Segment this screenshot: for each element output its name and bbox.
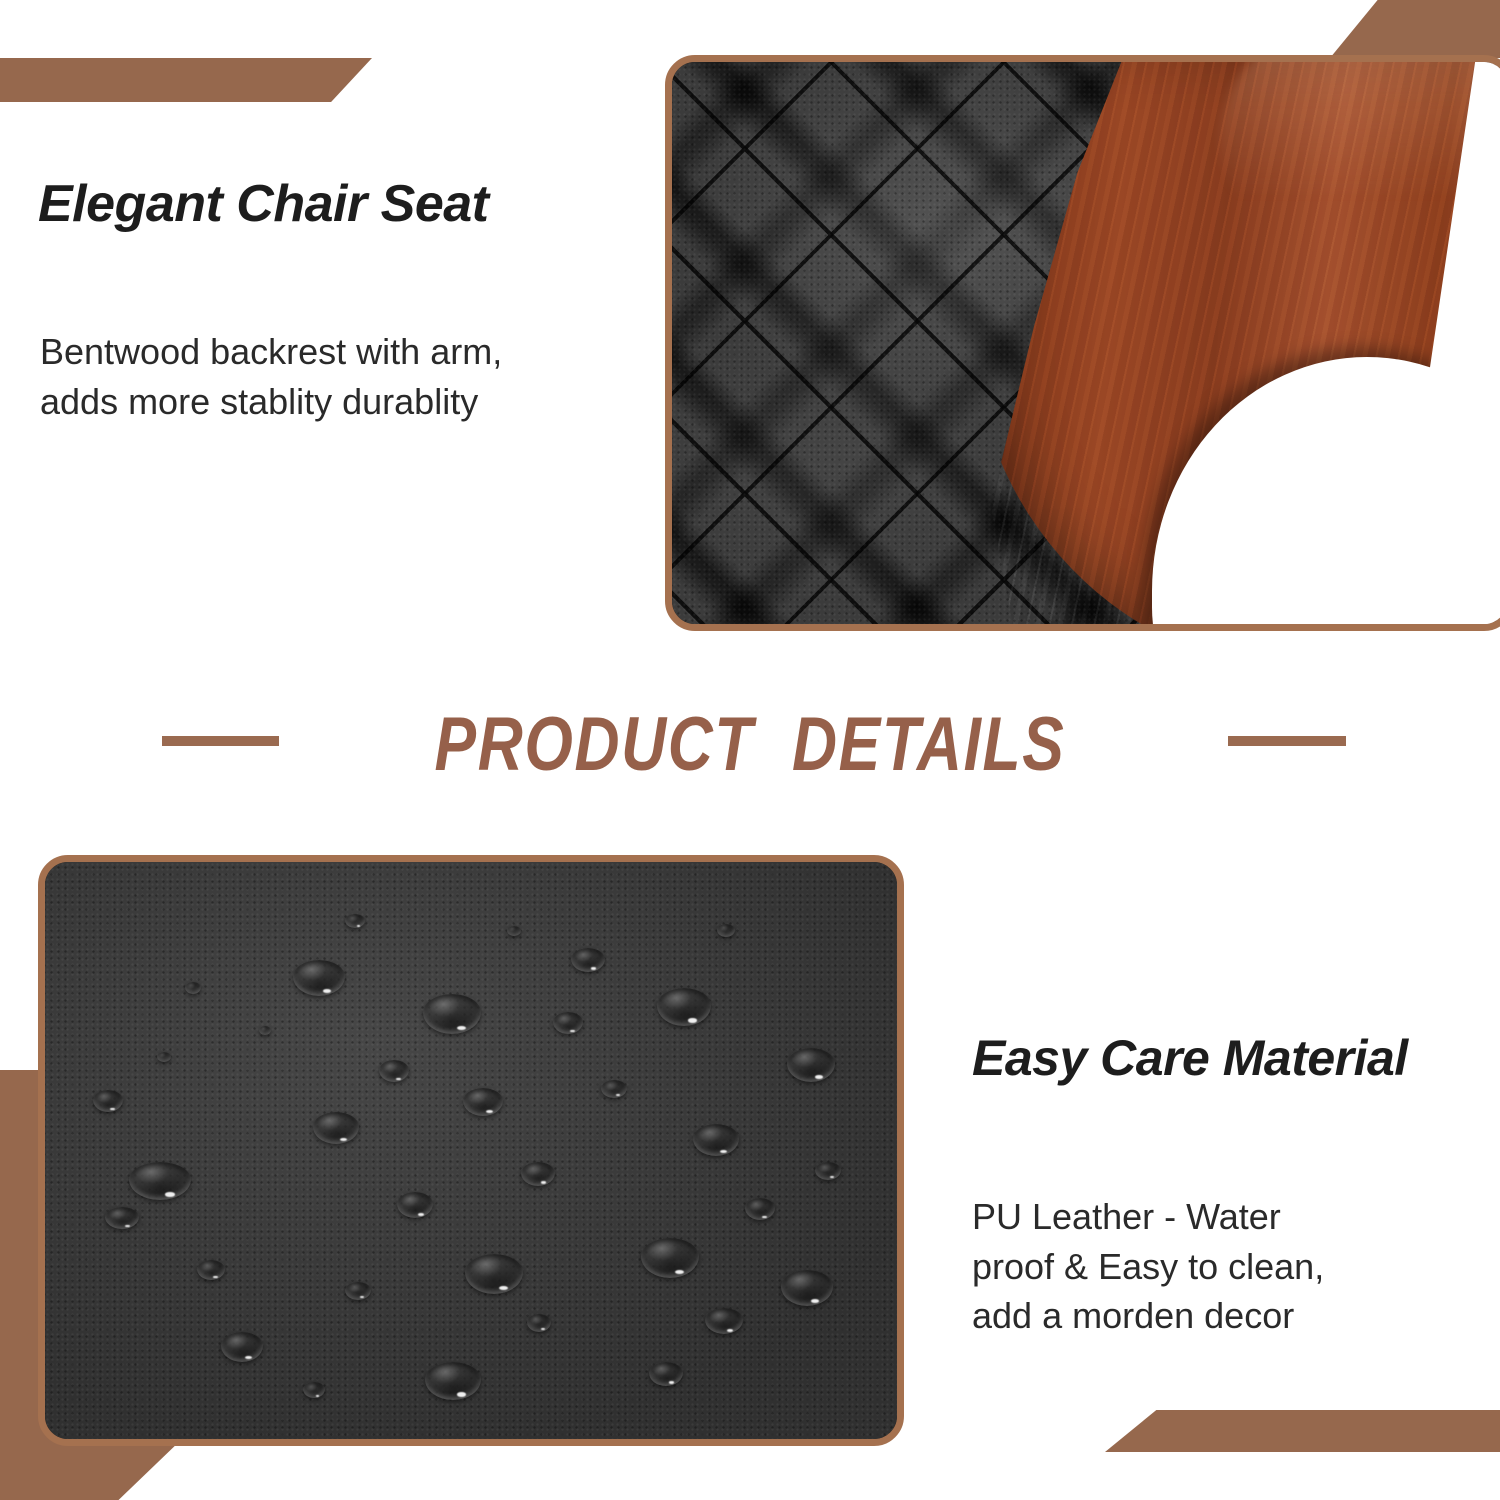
heading-dash-right-icon bbox=[1228, 736, 1346, 746]
water-droplets-photo bbox=[45, 862, 897, 1439]
decor-top-right-wedge bbox=[1330, 0, 1500, 58]
feature-body-line: proof & Easy to clean, bbox=[972, 1246, 1324, 1287]
feature-body-easy-care-material: PU Leather - Water proof & Easy to clean… bbox=[972, 1192, 1324, 1341]
feature-title-elegant-chair-seat: Elegant Chair Seat bbox=[38, 178, 488, 230]
quilted-seat-photo bbox=[672, 62, 1500, 624]
feature-body-elegant-chair-seat: Bentwood backrest with arm, adds more st… bbox=[40, 327, 502, 426]
decor-top-left-band bbox=[0, 58, 372, 102]
feature-body-line: PU Leather - Water bbox=[972, 1196, 1281, 1237]
product-detail-page: Elegant Chair Seat Bentwood backrest wit… bbox=[0, 0, 1500, 1500]
feature-body-line: Bentwood backrest with arm, bbox=[40, 331, 502, 372]
pu-leather-surface bbox=[45, 862, 897, 1439]
feature-title-easy-care-material: Easy Care Material bbox=[972, 1033, 1408, 1083]
feature-body-line: adds more stablity durablity bbox=[40, 381, 478, 422]
section-heading-product-details: PRODUCT DETAILS bbox=[135, 690, 1365, 800]
decor-bottom-right-band bbox=[1105, 1410, 1500, 1452]
quilted-seat-photo-card bbox=[665, 55, 1500, 631]
section-heading-group: PRODUCT DETAILS bbox=[0, 690, 1500, 800]
feature-body-line: add a morden decor bbox=[972, 1295, 1294, 1336]
water-droplets-photo-card bbox=[38, 855, 904, 1446]
